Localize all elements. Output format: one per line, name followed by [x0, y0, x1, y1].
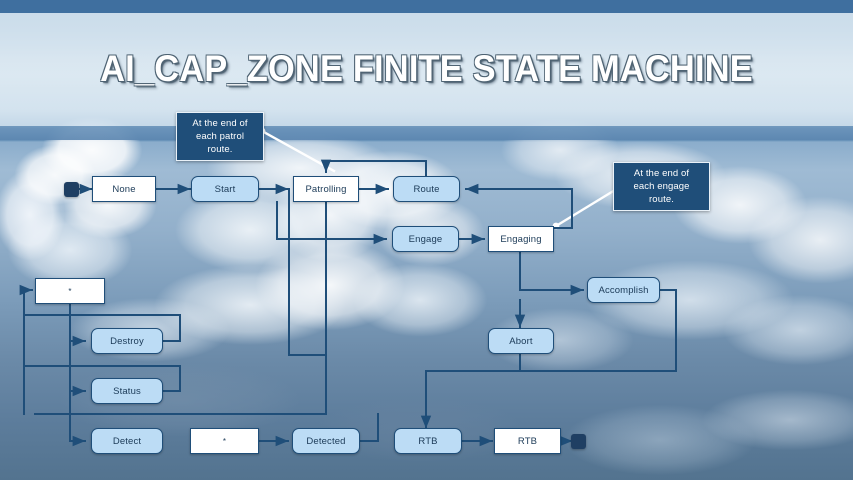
node-label: RTB: [418, 436, 437, 447]
node-label: Status: [113, 386, 141, 397]
node-label: Engage: [409, 234, 443, 245]
callout-line-2: each engage route.: [621, 180, 702, 206]
node-label: Detected: [306, 436, 345, 447]
node-rtb-blue[interactable]: RTB: [394, 428, 462, 454]
node-label: Route: [413, 184, 439, 195]
node-label: None: [112, 184, 135, 195]
node-start[interactable]: Start: [191, 176, 259, 202]
node-label: Engaging: [500, 234, 541, 245]
node-none[interactable]: None: [92, 176, 156, 202]
node-label: Abort: [509, 336, 532, 347]
node-destroy[interactable]: Destroy: [91, 328, 163, 354]
node-engage[interactable]: Engage: [392, 226, 459, 252]
node-label: Destroy: [110, 336, 144, 347]
node-label: *: [223, 437, 226, 446]
callout-patrol-note: At the end of each patrol route.: [176, 112, 264, 161]
node-label: Detect: [113, 436, 141, 447]
node-detected[interactable]: Detected: [292, 428, 360, 454]
callout-line-2: each patrol route.: [184, 130, 256, 156]
node-engaging[interactable]: Engaging: [488, 226, 554, 252]
node-abort[interactable]: Abort: [488, 328, 554, 354]
node-route[interactable]: Route: [393, 176, 460, 202]
slide-canvas: AI_CAP_ZONE FINITE STATE MACHINE: [0, 0, 853, 480]
node-detect[interactable]: Detect: [91, 428, 163, 454]
node-label: RTB: [518, 436, 537, 447]
node-label: Patrolling: [305, 184, 346, 195]
node-rtb-white[interactable]: RTB: [494, 428, 561, 454]
node-patrolling[interactable]: Patrolling: [293, 176, 359, 202]
node-any-bottom[interactable]: *: [190, 428, 259, 454]
node-accomplish[interactable]: Accomplish: [587, 277, 660, 303]
node-label: *: [68, 287, 71, 296]
node-label: Start: [215, 184, 236, 195]
node-end-marker[interactable]: [571, 434, 586, 449]
node-any-top[interactable]: *: [35, 278, 105, 304]
callout-engage-note: At the end of each engage route.: [613, 162, 710, 211]
node-status[interactable]: Status: [91, 378, 163, 404]
callout-line-1: At the end of: [184, 117, 256, 130]
node-label: Accomplish: [598, 285, 648, 296]
callout-line-1: At the end of: [621, 167, 702, 180]
node-start-marker[interactable]: [64, 182, 79, 197]
